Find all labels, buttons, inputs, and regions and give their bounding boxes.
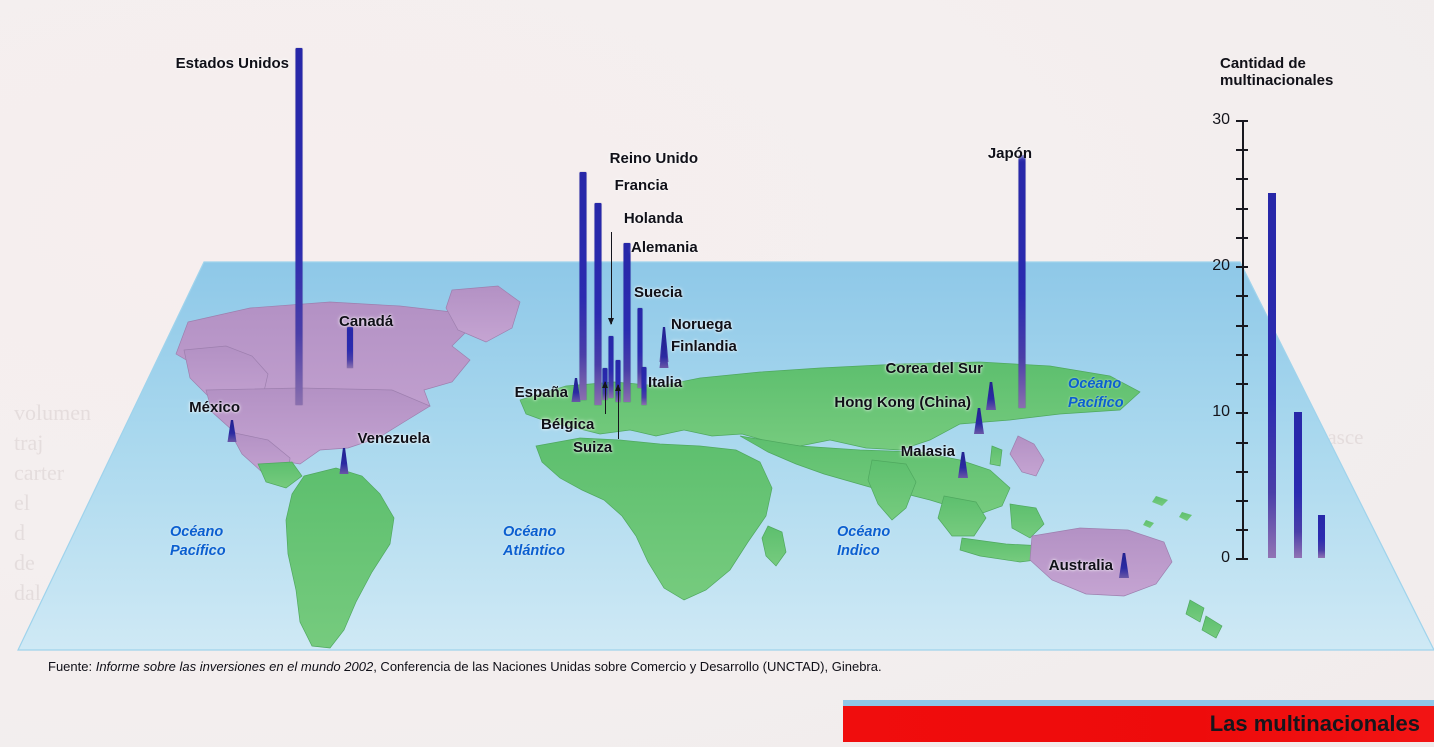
source-title: Informe sobre las inversiones en el mund… bbox=[96, 659, 374, 674]
label-italia: Italia bbox=[648, 374, 682, 391]
leader-holanda bbox=[611, 232, 612, 324]
label-corea-del-sur: Corea del Sur bbox=[885, 360, 983, 377]
bar-japon bbox=[1019, 155, 1026, 408]
label-australia: Australia bbox=[1049, 557, 1113, 574]
label-venezuela: Venezuela bbox=[357, 430, 430, 447]
infographic-page: volumen traj carter el d de dal que la d… bbox=[0, 0, 1434, 747]
bar-venezuela bbox=[340, 448, 349, 474]
label-espana: España bbox=[515, 384, 568, 401]
leader-suiza bbox=[618, 385, 619, 439]
leader-belgica bbox=[605, 382, 606, 414]
axis-tick-28 bbox=[1236, 149, 1248, 151]
bar-italia bbox=[642, 367, 647, 405]
bar-malasia bbox=[958, 452, 968, 478]
axis-tick-20 bbox=[1236, 266, 1248, 268]
axis-tick-30 bbox=[1236, 120, 1248, 122]
axis-tick-label-10: 10 bbox=[1196, 403, 1230, 421]
bar-australia bbox=[1119, 553, 1129, 578]
axis-tick-0 bbox=[1236, 558, 1248, 560]
bar-hong-kong-china bbox=[974, 408, 984, 434]
axis-tick-8 bbox=[1236, 442, 1248, 444]
label-mexico: México bbox=[189, 399, 240, 416]
label-finlandia: Finlandia bbox=[671, 338, 737, 355]
bar-holanda bbox=[609, 336, 614, 398]
label-japon: Japón bbox=[988, 145, 1032, 162]
label-estados-unidos: Estados Unidos bbox=[176, 55, 289, 72]
axis-tick-label-30: 30 bbox=[1196, 111, 1230, 129]
axis-tick-14 bbox=[1236, 354, 1248, 356]
axis-tick-label-0: 0 bbox=[1196, 549, 1230, 567]
bar-corea-del-sur bbox=[986, 382, 996, 410]
bar-mexico bbox=[228, 420, 237, 442]
label-noruega: Noruega bbox=[671, 316, 732, 333]
reference-bar-10 bbox=[1294, 412, 1302, 558]
bar-espana bbox=[572, 378, 581, 402]
source-suffix: , Conferencia de las Naciones Unidas sob… bbox=[373, 659, 881, 674]
bottom-banner: Las multinacionales bbox=[843, 706, 1434, 742]
label-francia: Francia bbox=[615, 177, 668, 194]
axis-line bbox=[1242, 120, 1244, 558]
label-reino-unido: Reino Unido bbox=[610, 150, 698, 167]
source-note: Fuente: Informe sobre las inversiones en… bbox=[48, 659, 882, 674]
label-suiza: Suiza bbox=[573, 439, 612, 456]
label-canada: Canadá bbox=[339, 313, 393, 330]
axis-tick-16 bbox=[1236, 325, 1248, 327]
axis-tick-22 bbox=[1236, 237, 1248, 239]
label-hong-kong-china: Hong Kong (China) bbox=[834, 394, 971, 411]
bar-alemania bbox=[624, 243, 631, 402]
bar-reino-unido bbox=[580, 172, 587, 400]
bar-estados-unidos bbox=[296, 48, 303, 405]
axis-tick-4 bbox=[1236, 500, 1248, 502]
source-prefix: Fuente: bbox=[48, 659, 96, 674]
scale-legend: Cantidad de multinacionales 30 20 10 0 bbox=[1210, 55, 1434, 575]
label-alemania: Alemania bbox=[631, 239, 698, 256]
label-belgica: Bélgica bbox=[541, 416, 594, 433]
axis-tick-2 bbox=[1236, 529, 1248, 531]
bar-finlandia bbox=[660, 340, 669, 368]
label-holanda: Holanda bbox=[624, 210, 683, 227]
axis-tick-12 bbox=[1236, 383, 1248, 385]
axis-tick-26 bbox=[1236, 178, 1248, 180]
scale-title: Cantidad de multinacionales bbox=[1220, 55, 1333, 89]
axis-tick-label-20: 20 bbox=[1196, 257, 1230, 275]
axis-tick-24 bbox=[1236, 208, 1248, 210]
axis-tick-6 bbox=[1236, 471, 1248, 473]
bar-canada bbox=[347, 327, 353, 368]
banner-title: Las multinacionales bbox=[1210, 711, 1420, 737]
axis-tick-18 bbox=[1236, 295, 1248, 297]
label-suecia: Suecia bbox=[634, 284, 682, 301]
reference-bar-25 bbox=[1268, 193, 1276, 558]
axis-tick-10 bbox=[1236, 412, 1248, 414]
label-malasia: Malasia bbox=[901, 443, 955, 460]
reference-bar-3 bbox=[1318, 515, 1325, 558]
bar-francia bbox=[595, 203, 602, 405]
